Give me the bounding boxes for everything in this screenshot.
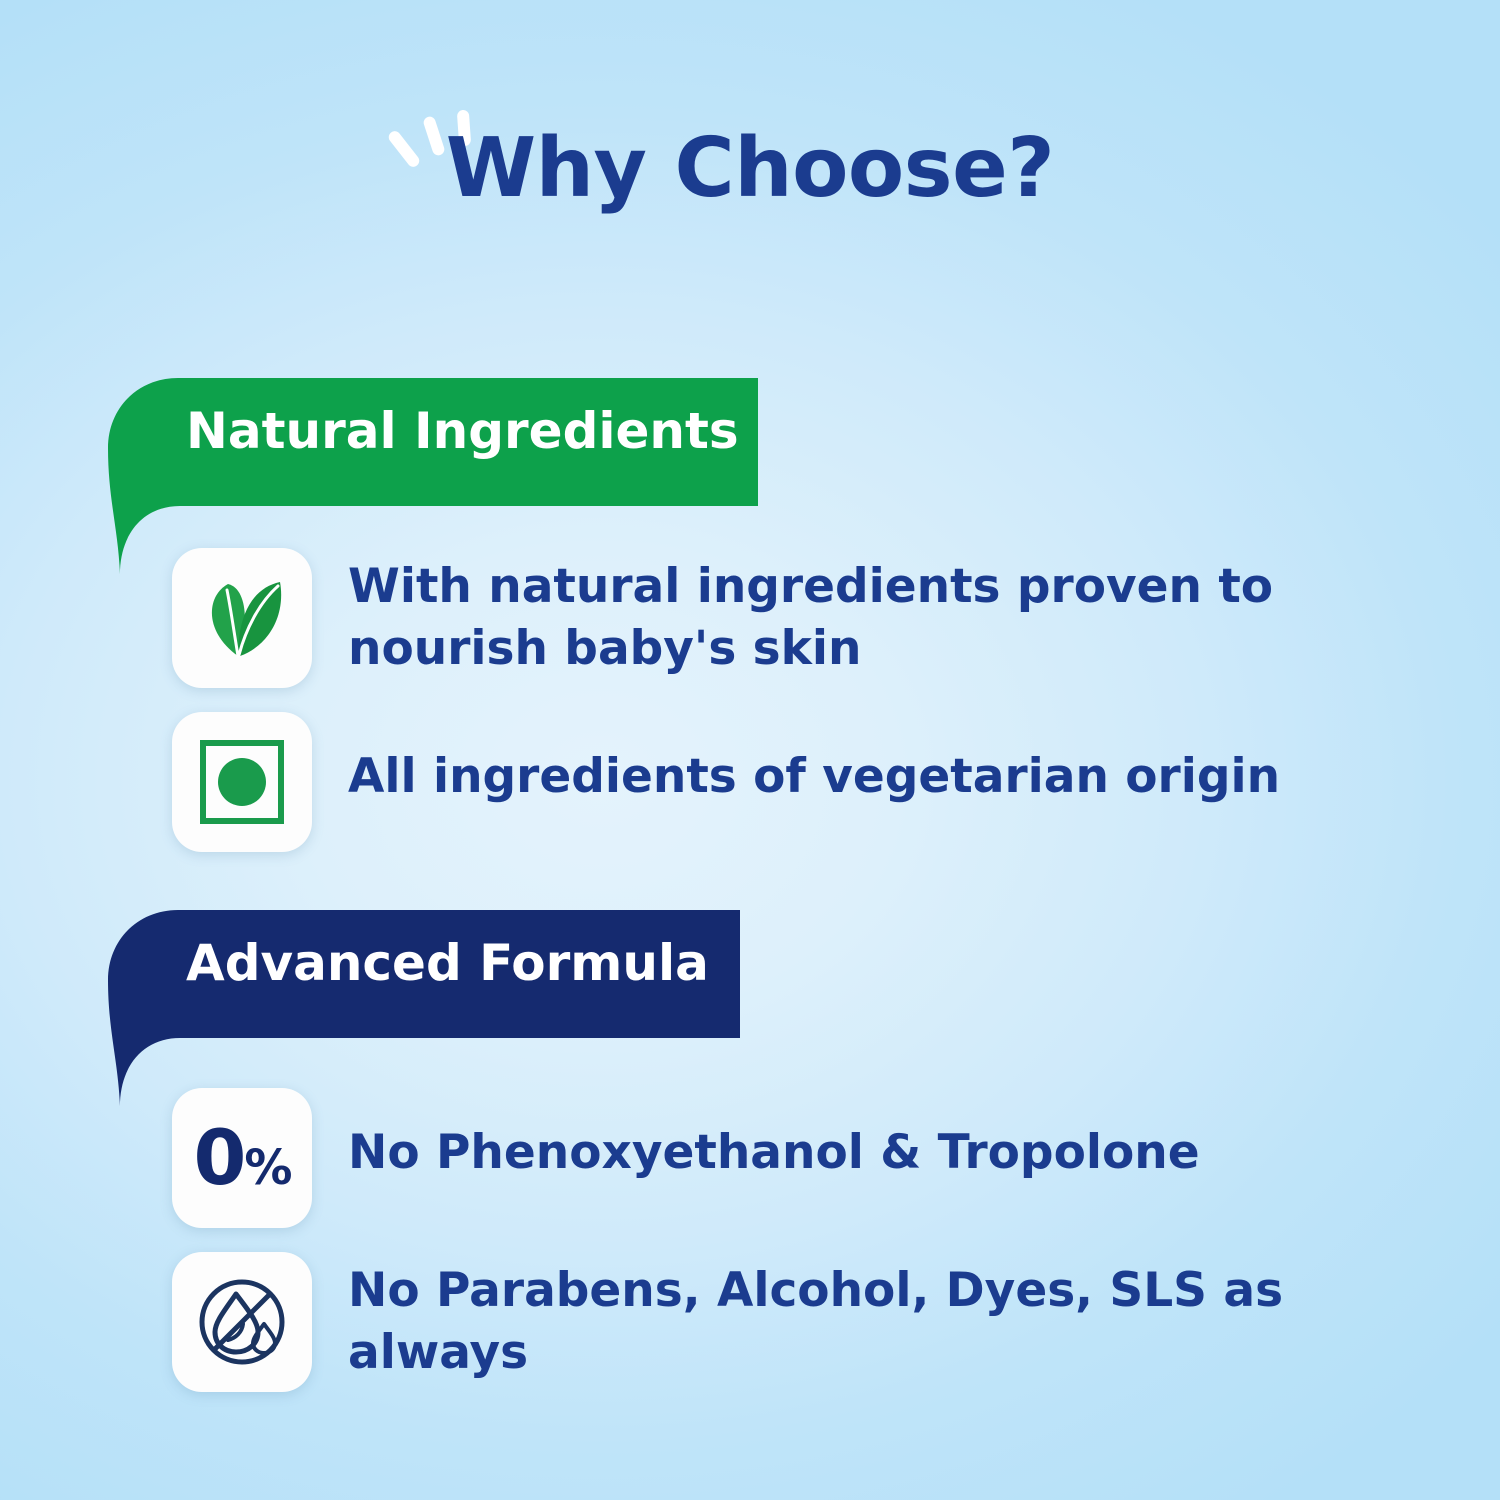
icon-card: [172, 548, 312, 688]
feature-text: All ingredients of vegetarian origin: [348, 712, 1280, 808]
feature-item: No Parabens, Alcohol, Dyes, SLS as alway…: [0, 1252, 1500, 1402]
vegetarian-mark-icon: [197, 737, 287, 827]
banner-label-advanced: Advanced Formula: [186, 938, 709, 988]
feature-text: No Phenoxyethanol & Tropolone: [348, 1088, 1200, 1184]
icon-card: 0%: [172, 1088, 312, 1228]
feature-list-advanced: 0% No Phenoxyethanol & Tropolone No Para…: [0, 1088, 1500, 1402]
feature-text: No Parabens, Alcohol, Dyes, SLS as alway…: [348, 1252, 1378, 1384]
feature-item: All ingredients of vegetarian origin: [0, 712, 1500, 862]
zero-percent-symbol: %: [244, 1140, 290, 1196]
page-title-container: Why Choose?: [0, 128, 1500, 210]
page-title: Why Choose?: [446, 128, 1055, 210]
icon-card: [172, 1252, 312, 1392]
leaf-icon: [194, 570, 290, 666]
feature-item: With natural ingredients proven to nouri…: [0, 548, 1500, 698]
feature-item: 0% No Phenoxyethanol & Tropolone: [0, 1088, 1500, 1238]
zero-percent-zero: 0: [194, 1113, 245, 1202]
icon-card: [172, 712, 312, 852]
zero-percent-icon: 0%: [194, 1120, 291, 1196]
feature-list-natural: With natural ingredients proven to nouri…: [0, 548, 1500, 862]
section-banner-advanced: Advanced Formula: [0, 910, 1500, 1110]
promo-infographic: Why Choose? Natural Ingredients With nat…: [0, 0, 1500, 1500]
feature-text: With natural ingredients proven to nouri…: [348, 548, 1378, 680]
no-droplet-icon: [192, 1272, 292, 1372]
banner-label-natural: Natural Ingredients: [186, 406, 739, 456]
